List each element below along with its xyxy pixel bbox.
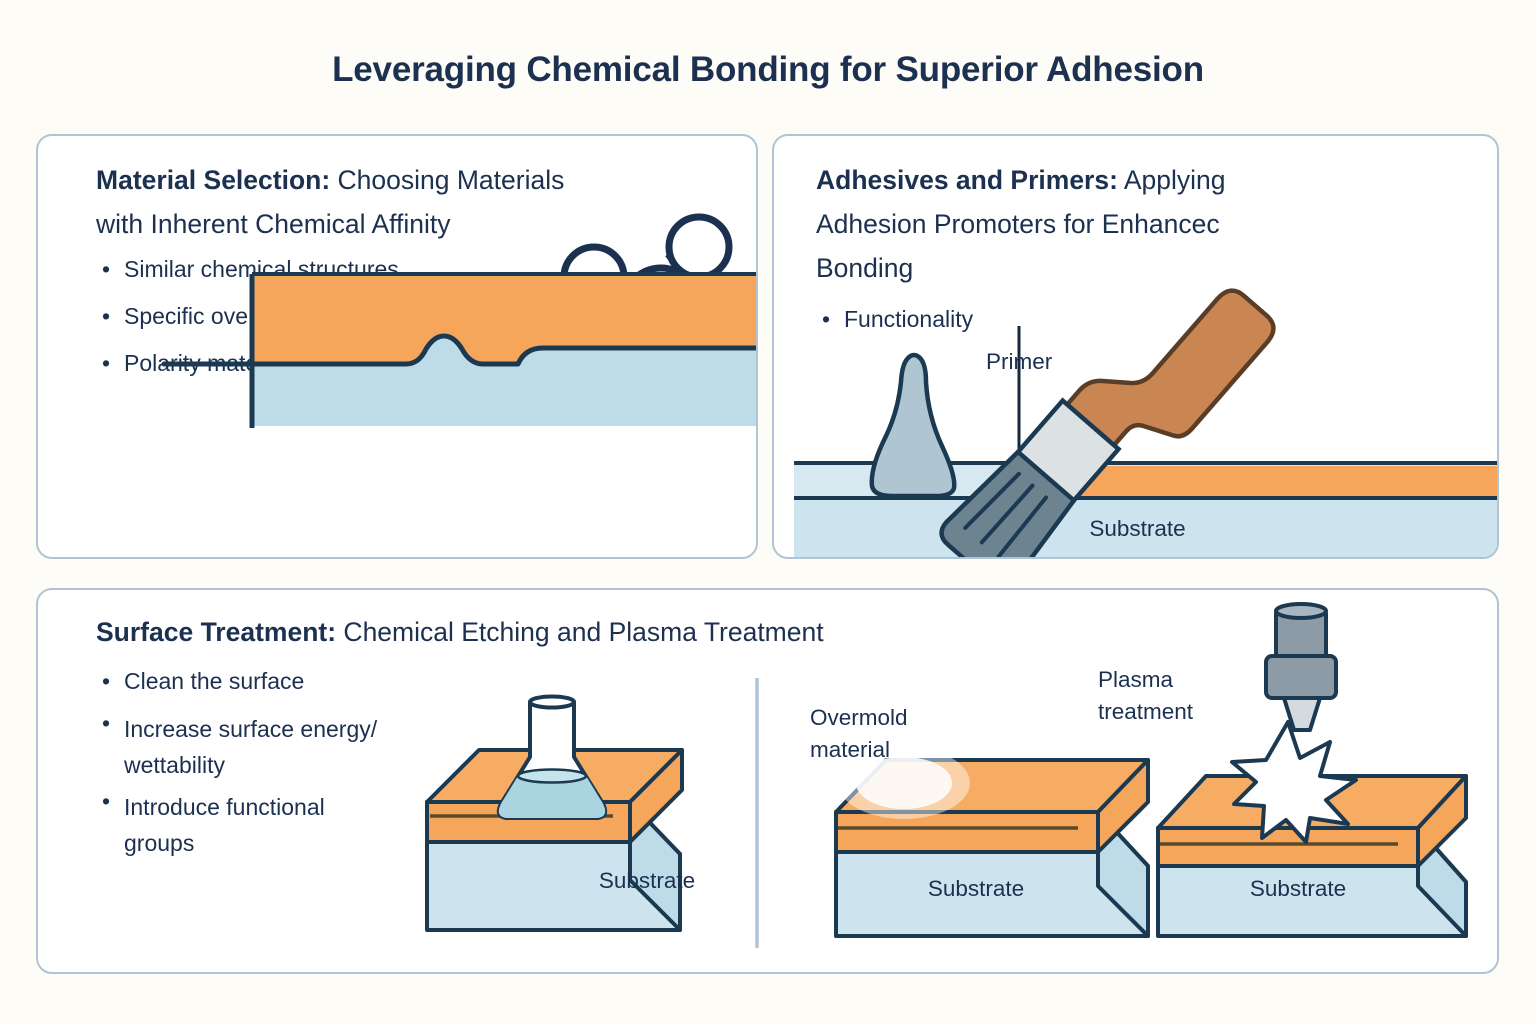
panel-adhesives-primers: Adhesives and Primers: Applying Adhesion… [772,134,1499,559]
primer-droplet [872,355,954,496]
nozzle-collar [1266,656,1336,698]
infographic-page: Leveraging Chemical Bonding for Superior… [0,0,1536,1024]
substrate-label-plasma: Substrate [1178,873,1418,905]
overmold-front-face [836,812,1098,852]
substrate-label-etching: Substrate [516,865,778,897]
plasma-nozzle-icon [1266,604,1336,730]
plasma-overmold-front [1158,828,1418,866]
panel-surface-treatment: Surface Treatment: Chemical Etching and … [36,588,1499,974]
surface-treatment-diagram [38,590,1499,974]
substrate-label: Substrate [774,513,1499,545]
nozzle-top-cap [1276,604,1326,618]
panel-material-selection: Material Selection: Choosing Materials w… [36,134,758,559]
overmold-material-label-2: Overmold material [810,702,908,766]
adhesives-diagram [774,136,1499,559]
material-cross-section-diagram [38,136,758,559]
adhesives-diagram-layer [774,136,1497,557]
page-title: Leveraging Chemical Bonding for Superior… [0,50,1536,90]
flask-mouth [530,697,574,708]
plasma-treatment-label: Plasma treatment [1098,664,1193,728]
substrate-label-overmold: Substrate [856,873,1096,905]
overmold-block [836,747,1148,936]
surface-treatment-diagram-layer [38,590,1497,972]
material-cross-section-layer [38,136,756,557]
primer-label: Primer [986,346,1052,378]
flask-liquid-surface [518,770,586,783]
